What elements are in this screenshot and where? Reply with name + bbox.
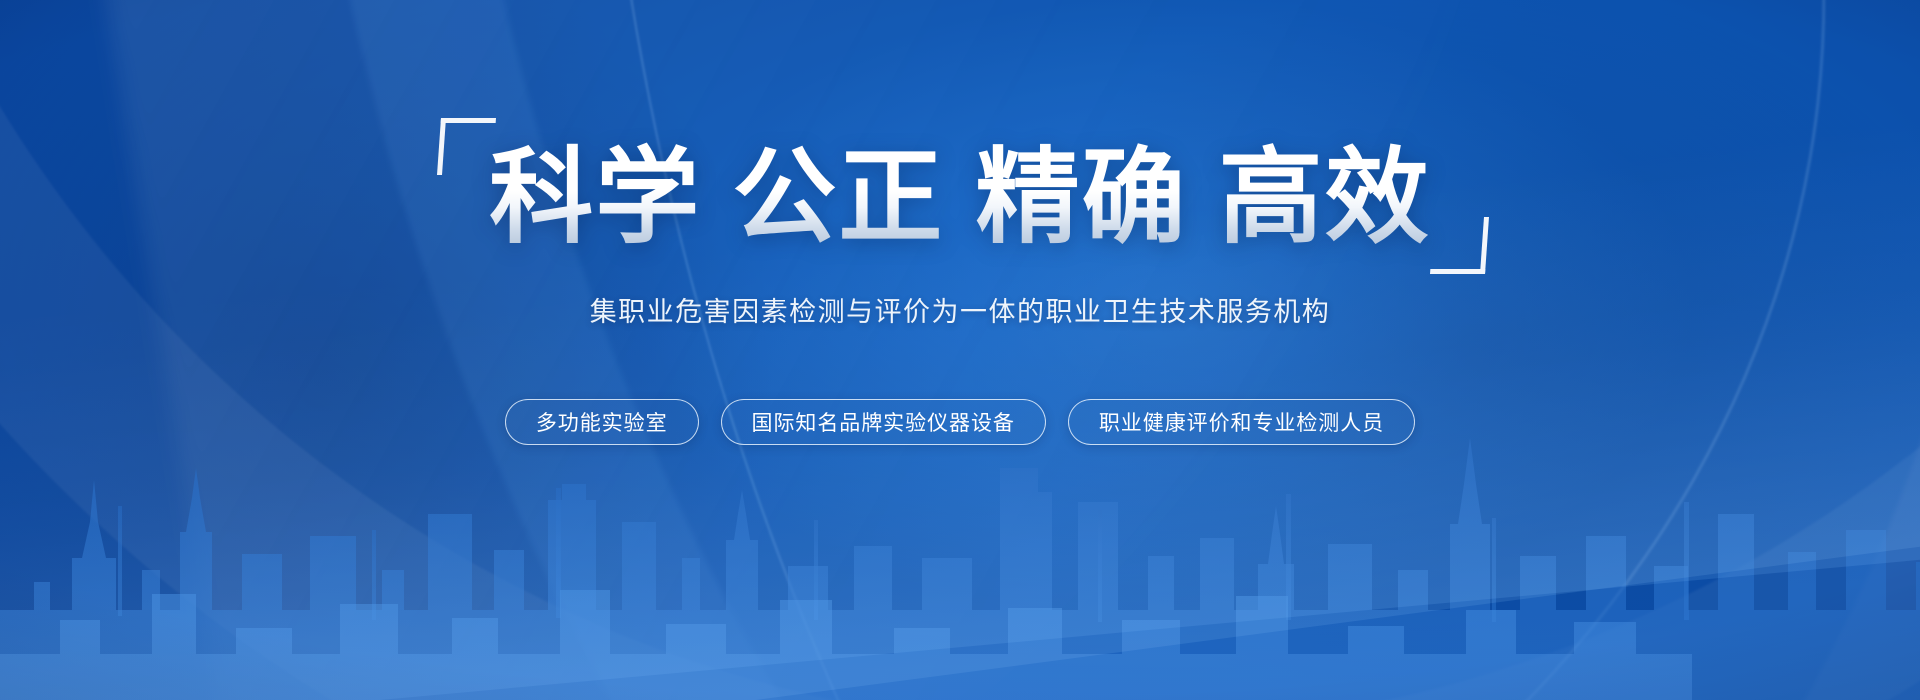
banner-content: 科学 公正 精确 高效 集职业危害因素检测与评价为一体的职业卫生技术服务机构 多… — [0, 0, 1920, 700]
feature-pill-lab[interactable]: 多功能实验室 — [505, 399, 699, 445]
feature-pill-equipment[interactable]: 国际知名品牌实验仪器设备 — [721, 399, 1046, 445]
headline-group: 科学 公正 精确 高效 — [443, 140, 1477, 256]
hero-banner: 科学 公正 精确 高效 集职业危害因素检测与评价为一体的职业卫生技术服务机构 多… — [0, 0, 1920, 700]
corner-bracket-close-icon — [1430, 217, 1489, 274]
banner-subtitle: 集职业危害因素检测与评价为一体的职业卫生技术服务机构 — [590, 290, 1331, 329]
corner-bracket-open-icon — [437, 118, 496, 175]
feature-pill-personnel[interactable]: 职业健康评价和专业检测人员 — [1068, 399, 1415, 445]
banner-headline: 科学 公正 精确 高效 — [489, 140, 1431, 256]
feature-pill-list: 多功能实验室 国际知名品牌实验仪器设备 职业健康评价和专业检测人员 — [505, 399, 1415, 445]
